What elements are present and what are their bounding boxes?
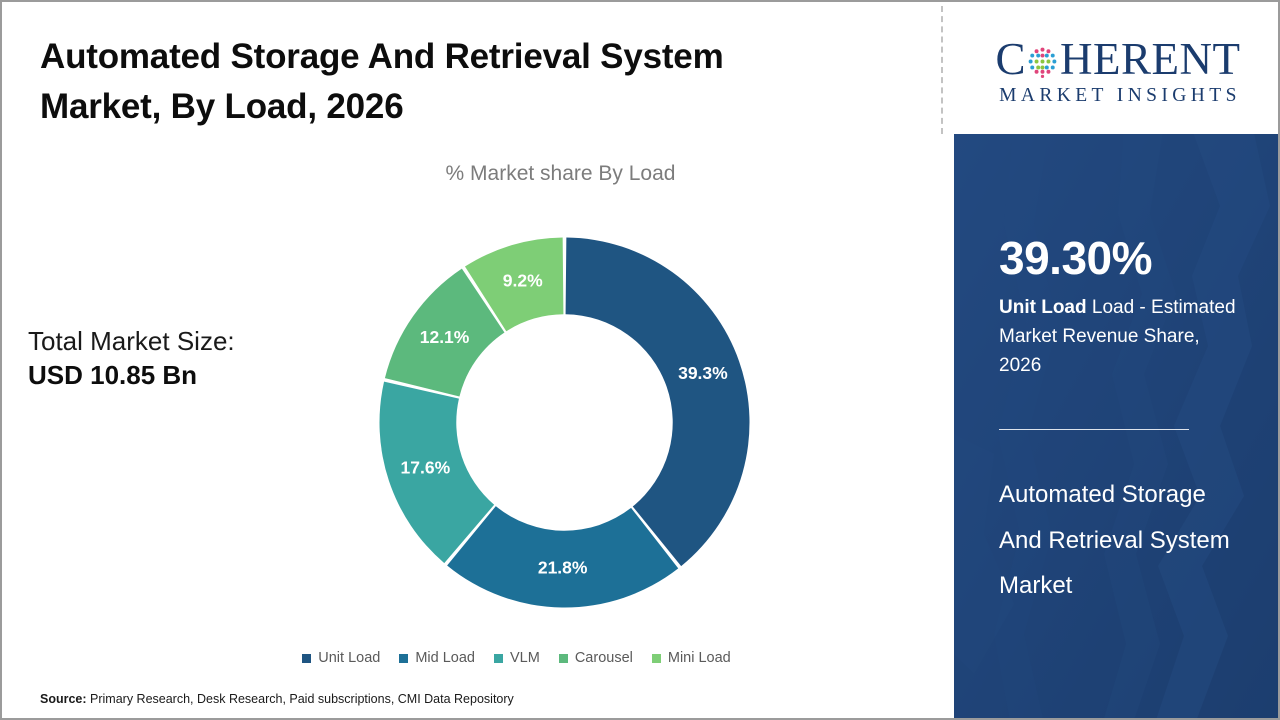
total-market-size: Total Market Size: USD 10.85 Bn	[28, 324, 328, 393]
donut-slice-label: 9.2%	[503, 271, 543, 291]
legend-label: VLM	[510, 650, 540, 666]
legend-item[interactable]: VLM	[494, 650, 540, 666]
legend-swatch-icon	[652, 654, 661, 663]
legend-swatch-icon	[302, 654, 311, 663]
legend-swatch-icon	[494, 654, 503, 663]
page-title: Automated Storage And Retrieval System M…	[40, 32, 840, 131]
legend-label: Mid Load	[415, 650, 475, 666]
total-market-size-label: Total Market Size:	[28, 324, 328, 358]
donut-slice[interactable]	[566, 238, 750, 567]
donut-slice-label: 39.3%	[678, 363, 728, 383]
chart-subtitle: % Market share By Load	[2, 162, 943, 186]
legend-label: Unit Load	[318, 650, 380, 666]
source-text: Primary Research, Desk Research, Paid su…	[87, 692, 514, 706]
legend-item[interactable]: Mid Load	[399, 650, 475, 666]
donut-chart-svg: 39.3%21.8%17.6%12.1%9.2%	[372, 230, 757, 615]
donut-slice-label: 21.8%	[538, 558, 588, 578]
source-label: Source:	[40, 692, 87, 706]
stat-description: Unit Load Load - Estimated Market Revenu…	[999, 294, 1244, 381]
stat-description-strong: Unit Load	[999, 297, 1087, 318]
brand-logo[interactable]: C	[954, 2, 1280, 134]
stat-market-name: Automated Storage And Retrieval System M…	[999, 472, 1244, 609]
logo-wordmark-text: HERENT	[1060, 37, 1240, 82]
donut-slice-group	[380, 238, 750, 608]
logo-letter-c: C	[996, 37, 1027, 82]
highlight-stat-content: 39.30% Unit Load Load - Estimated Market…	[954, 234, 1280, 609]
logo-wordmark: C	[996, 35, 1241, 83]
legend-item[interactable]: Carousel	[559, 650, 633, 666]
infographic-slide: Automated Storage And Retrieval System M…	[0, 0, 1280, 720]
highlight-stat-panel: 39.30% Unit Load Load - Estimated Market…	[954, 134, 1280, 720]
legend-item[interactable]: Unit Load	[302, 650, 380, 666]
legend-item[interactable]: Mini Load	[652, 650, 731, 666]
donut-slice-label: 17.6%	[401, 457, 451, 477]
globe-dots-icon	[1026, 45, 1059, 78]
source-footer: Source: Primary Research, Desk Research,…	[40, 692, 514, 706]
logo-tagline: MARKET INSIGHTS	[995, 85, 1241, 107]
legend-swatch-icon	[399, 654, 408, 663]
stat-value: 39.30%	[999, 234, 1244, 282]
page-title-line-2: Market, By Load, 2026	[40, 82, 840, 132]
chart-subtitle-text: % Market share By Load	[446, 162, 676, 185]
panel-divider	[941, 6, 943, 134]
legend-label: Mini Load	[668, 650, 731, 666]
donut-slice-label: 12.1%	[420, 327, 470, 347]
legend-label: Carousel	[575, 650, 633, 666]
total-market-size-value: USD 10.85 Bn	[28, 358, 328, 392]
chart-legend: Unit LoadMid LoadVLMCarouselMini Load	[2, 650, 943, 666]
main-content-panel: Automated Storage And Retrieval System M…	[2, 2, 943, 720]
legend-swatch-icon	[559, 654, 568, 663]
stat-divider-rule	[999, 429, 1189, 430]
page-title-line-1: Automated Storage And Retrieval System	[40, 32, 840, 82]
donut-chart: 39.3%21.8%17.6%12.1%9.2%	[372, 230, 757, 615]
sidebar-panel: C	[954, 2, 1280, 720]
